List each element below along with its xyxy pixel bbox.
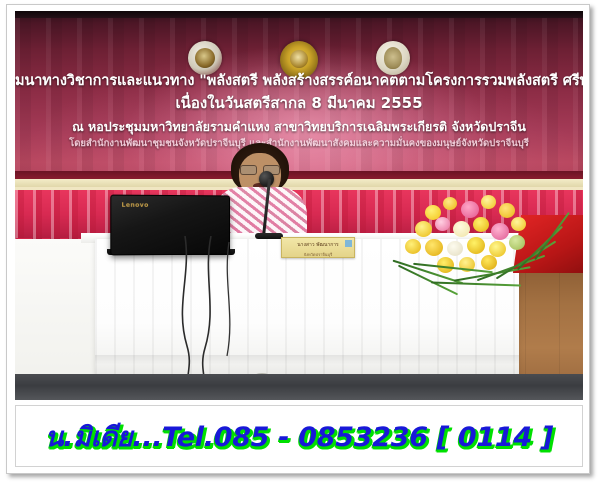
stage-front-edge bbox=[15, 374, 583, 400]
photo-card: มนาทางวิชาการและแนวทาง "พลังสตรี พลังสร้… bbox=[6, 4, 590, 474]
laptop-brand-label: Lenovo bbox=[122, 202, 149, 209]
seal-emblem-right-icon bbox=[376, 41, 410, 75]
floral-arrangement bbox=[391, 187, 583, 305]
caption-text: น.มิเดีย...Tel.085 - 0853236 [ 0114 ] bbox=[45, 415, 553, 458]
banner-title-line-1: มนาทางวิชาการและแนวทาง "พลังสตรี พลังสร้… bbox=[15, 73, 583, 90]
caption-bar: น.มิเดีย...Tel.085 - 0853236 [ 0114 ] bbox=[15, 405, 583, 467]
banner-title-line-2: เนื่องในวันสตรีสากล 8 มีนาคม 2555 bbox=[15, 95, 583, 113]
banner-top-rail bbox=[15, 11, 583, 18]
banner-text-block: มนาทางวิชาการและแนวทาง "พลังสตรี พลังสร้… bbox=[15, 73, 583, 149]
event-photograph: มนาทางวิชาการและแนวทาง "พลังสตรี พลังสร้… bbox=[15, 11, 583, 400]
eyeglasses-icon bbox=[240, 165, 280, 173]
banner-venue-line: ณ หอประชุมมหาวิทยาลัยรามคำแหง สาขาวิทยบร… bbox=[15, 120, 583, 135]
seal-emblem-left-icon bbox=[188, 41, 222, 75]
